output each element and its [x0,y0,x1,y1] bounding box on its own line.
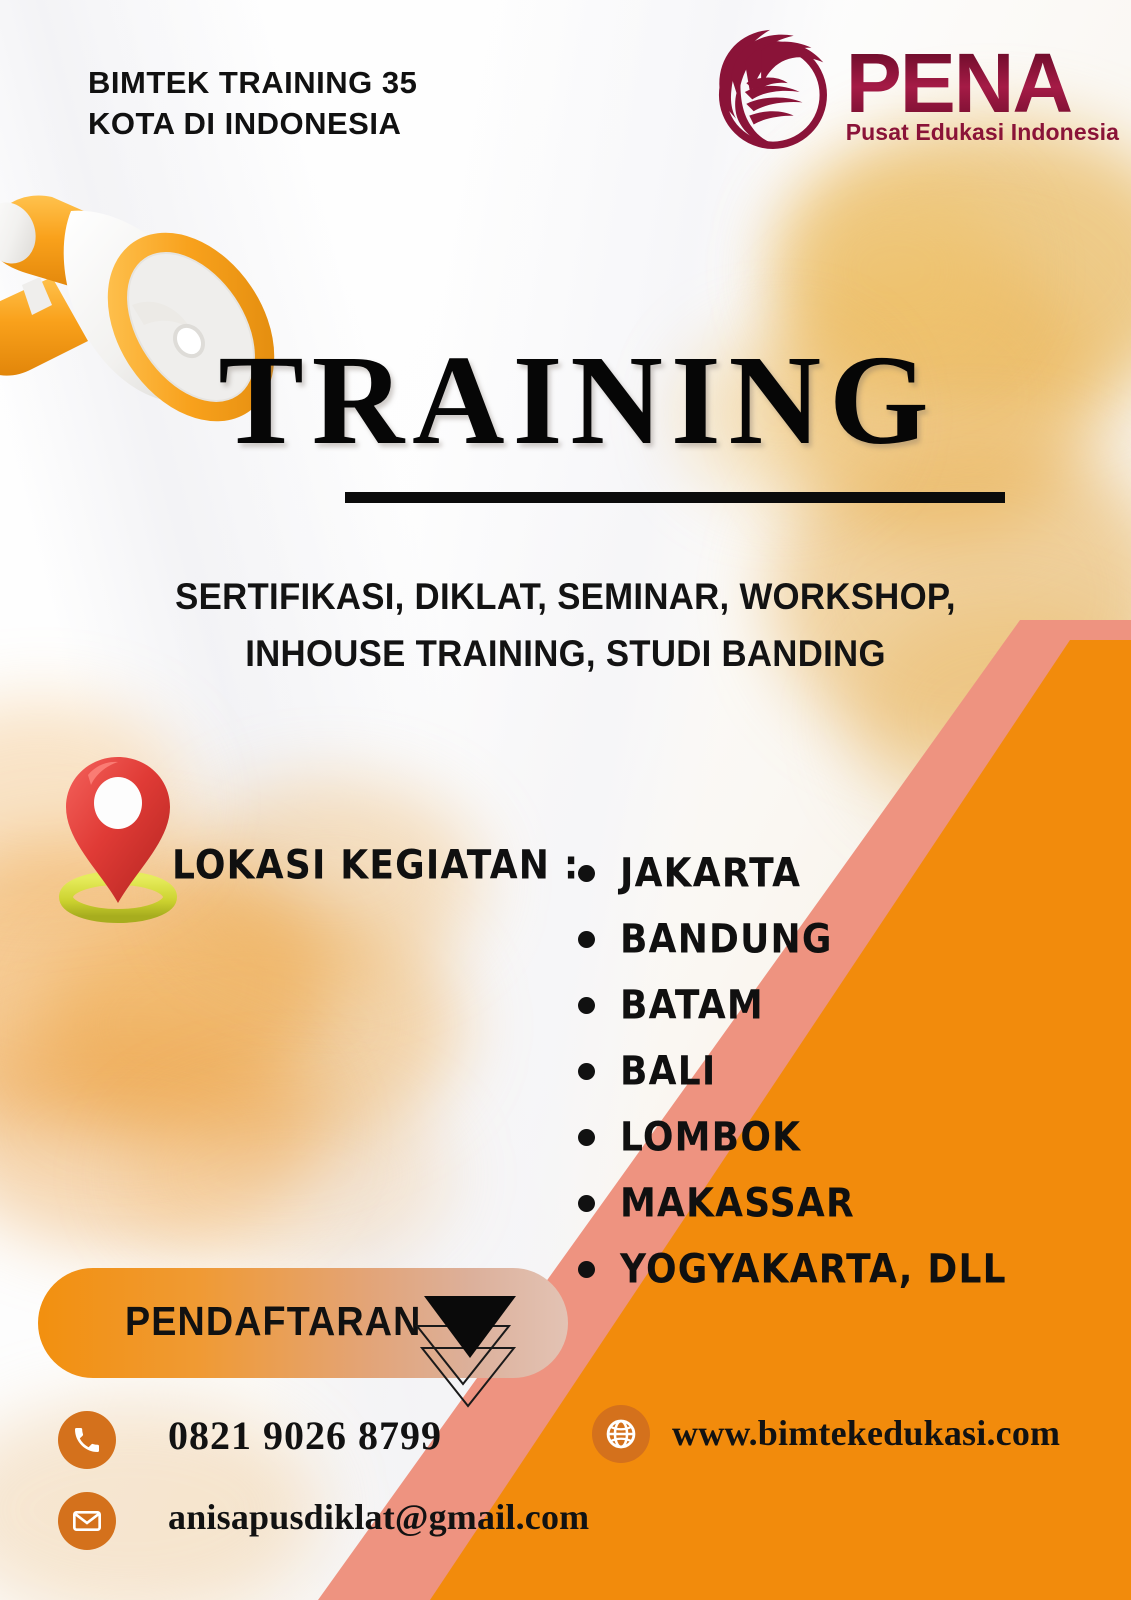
city-name: MAKASSAR [620,1180,855,1226]
locations-label: LOKASI KEGIATAN : [172,843,579,889]
list-item: MAKASSAR [578,1170,1007,1236]
hero-subtitle: SERTIFIKASI, DIKLAT, SEMINAR, WORKSHOP, … [137,568,993,683]
phone-number[interactable]: 0821 9026 8799 [168,1412,442,1459]
title-underline-rule [345,492,1005,503]
pena-logo: PENA Pusat Edukasi Indonesia [696,18,1123,166]
website-icon [592,1405,650,1463]
envelope-glyph [71,1505,103,1537]
subtitle-line-2: INHOUSE TRAINING, STUDI BANDING [137,625,993,682]
chevron-down-triangles-icon [412,1288,524,1408]
list-item: BANDUNG [578,906,1007,972]
page-title: TRAINING [0,336,1131,464]
city-name: YOGYAKARTA, DLL [620,1246,1007,1292]
pena-swirl-emblem-icon [696,18,844,166]
city-name: BALI [620,1048,716,1094]
list-item: BATAM [578,972,1007,1038]
city-name: JAKARTA [620,850,801,896]
subtitle-line-1: SERTIFIKASI, DIKLAT, SEMINAR, WORKSHOP, [137,568,993,625]
list-item: BALI [578,1038,1007,1104]
email-icon [58,1492,116,1550]
bullet-icon [578,1063,595,1080]
city-name: BANDUNG [620,916,833,962]
city-name: BATAM [620,982,764,1028]
headline-line-2: KOTA DI INDONESIA [88,103,558,144]
bullet-icon [578,865,595,882]
bullet-icon [578,1129,595,1146]
list-item: JAKARTA [578,840,1007,906]
pena-tagline: Pusat Edukasi Indonesia [846,119,1119,146]
globe-glyph [603,1416,639,1452]
pena-wordmark: PENA [846,50,1123,117]
website-url[interactable]: www.bimtekedukasi.com [672,1412,1060,1454]
phone-glyph [71,1424,103,1456]
email-address[interactable]: anisapusdiklat@gmail.com [168,1496,589,1538]
list-item: LOMBOK [578,1104,1007,1170]
poster-canvas: BIMTEK TRAINING 35 KOTA DI INDONESIA PEN… [0,0,1131,1600]
pendaftaran-label: PENDAFTARAN [125,1298,421,1345]
bullet-icon [578,931,595,948]
city-name: LOMBOK [620,1114,801,1160]
pena-wordmark-group: PENA Pusat Edukasi Indonesia [846,50,1123,146]
phone-icon [58,1411,116,1469]
city-list: JAKARTA BANDUNG BATAM BALI LOMBOK MAKASS… [578,840,1007,1302]
list-item: YOGYAKARTA, DLL [578,1236,1007,1302]
map-pin-icon [48,745,188,930]
poster-headline: BIMTEK TRAINING 35 KOTA DI INDONESIA [88,62,558,144]
bullet-icon [578,1195,595,1212]
bullet-icon [578,1261,595,1278]
bullet-icon [578,997,595,1014]
headline-line-1: BIMTEK TRAINING 35 [88,62,558,103]
